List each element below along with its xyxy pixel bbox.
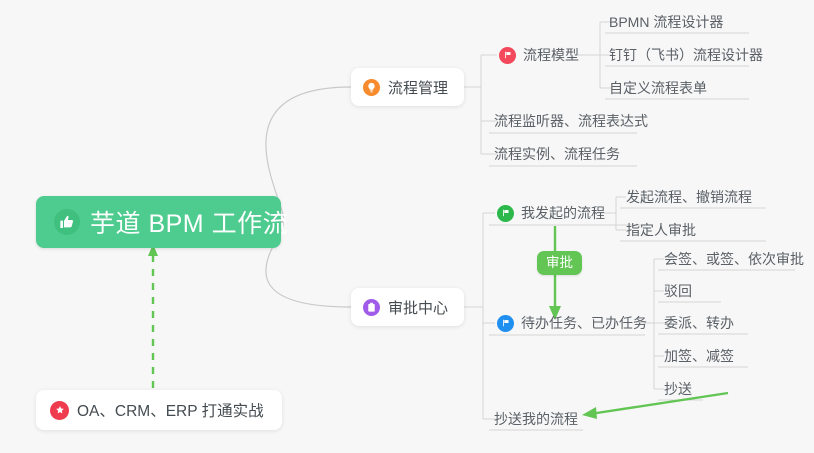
- leaf-label-start-cancel-process: 发起流程、撤销流程: [626, 187, 752, 207]
- branch-node-flow-management[interactable]: 流程管理: [351, 68, 464, 106]
- branch-label-approval-center: 审批中心: [388, 297, 448, 318]
- leaf-label-multi-sign: 会签、或签、依次审批: [664, 249, 804, 269]
- flag-icon: [499, 47, 516, 64]
- root-label: 芋道 BPM 工作流: [90, 204, 288, 240]
- branch-node-approval-center[interactable]: 审批中心: [351, 288, 464, 326]
- leaf-label-listener-expression: 流程监听器、流程表达式: [494, 111, 648, 131]
- leaf-node-delegate-transfer[interactable]: 委派、转办: [662, 310, 736, 336]
- leaf-node-dingtalk-designer[interactable]: 钉钉（飞书）流程设计器: [607, 42, 765, 68]
- leaf-label-instance-task: 流程实例、流程任务: [494, 144, 620, 164]
- annotation-badge-approve: 审批: [537, 251, 582, 275]
- leaf-label-copied-to-me: 抄送我的流程: [494, 409, 578, 429]
- annotation-badge-label: 审批: [546, 255, 573, 270]
- flag-icon: [497, 315, 514, 332]
- arrowhead-cc-to-copied: [582, 407, 597, 419]
- leaf-label-my-submitted: 我发起的流程: [521, 203, 605, 223]
- leaf-node-my-submitted[interactable]: 我发起的流程: [495, 200, 607, 226]
- leaf-label-assignee-approval: 指定人审批: [626, 220, 696, 240]
- arrow-cc-to-copied: [590, 393, 728, 414]
- leaf-node-listener-expression[interactable]: 流程监听器、流程表达式: [492, 108, 650, 134]
- leaf-node-start-cancel-process[interactable]: 发起流程、撤销流程: [624, 184, 754, 210]
- leaf-node-copied-to-me[interactable]: 抄送我的流程: [492, 406, 580, 432]
- leaf-label-custom-form: 自定义流程表单: [609, 78, 707, 98]
- leaf-label-bpmn-designer: BPMN 流程设计器: [609, 12, 723, 32]
- leaf-node-reject[interactable]: 驳回: [662, 278, 694, 304]
- leaf-node-flow-model[interactable]: 流程模型: [497, 42, 581, 68]
- leaf-label-delegate-transfer: 委派、转办: [664, 313, 734, 333]
- flag-icon: [497, 205, 514, 222]
- branch-label-flow-management: 流程管理: [388, 77, 448, 98]
- leaf-node-instance-task[interactable]: 流程实例、流程任务: [492, 141, 622, 167]
- leaf-node-custom-form[interactable]: 自定义流程表单: [607, 75, 709, 101]
- leaf-label-add-remove-sign: 加签、减签: [664, 346, 734, 366]
- leaf-node-assignee-approval[interactable]: 指定人审批: [624, 217, 698, 243]
- clipboard-icon: [363, 299, 380, 316]
- thumbs-up-icon: [54, 209, 80, 235]
- leaf-label-reject: 驳回: [664, 281, 692, 301]
- mindmap-canvas: 芋道 BPM 工作流 流程管理 审批中心 OA、CRM、ERP: [0, 0, 814, 453]
- lightbulb-icon: [363, 79, 380, 96]
- leaf-node-todo-done-tasks[interactable]: 待办任务、已办任务: [495, 310, 649, 336]
- leaf-node-multi-sign[interactable]: 会签、或签、依次审批: [662, 246, 806, 272]
- leaf-label-todo-done-tasks: 待办任务、已办任务: [521, 313, 647, 333]
- leaf-label-flow-model: 流程模型: [523, 45, 579, 65]
- root-node[interactable]: 芋道 BPM 工作流: [36, 196, 281, 248]
- leaf-label-carbon-copy: 抄送: [664, 379, 692, 399]
- leaf-node-bpmn-designer[interactable]: BPMN 流程设计器: [607, 9, 725, 35]
- leaf-node-carbon-copy[interactable]: 抄送: [662, 376, 694, 402]
- leaf-node-add-remove-sign[interactable]: 加签、减签: [662, 343, 736, 369]
- leaf-label-dingtalk-designer: 钉钉（飞书）流程设计器: [609, 45, 763, 65]
- note-node-integration[interactable]: OA、CRM、ERP 打通实战: [36, 390, 282, 430]
- note-label-integration: OA、CRM、ERP 打通实战: [77, 399, 264, 421]
- star-icon: [50, 401, 69, 420]
